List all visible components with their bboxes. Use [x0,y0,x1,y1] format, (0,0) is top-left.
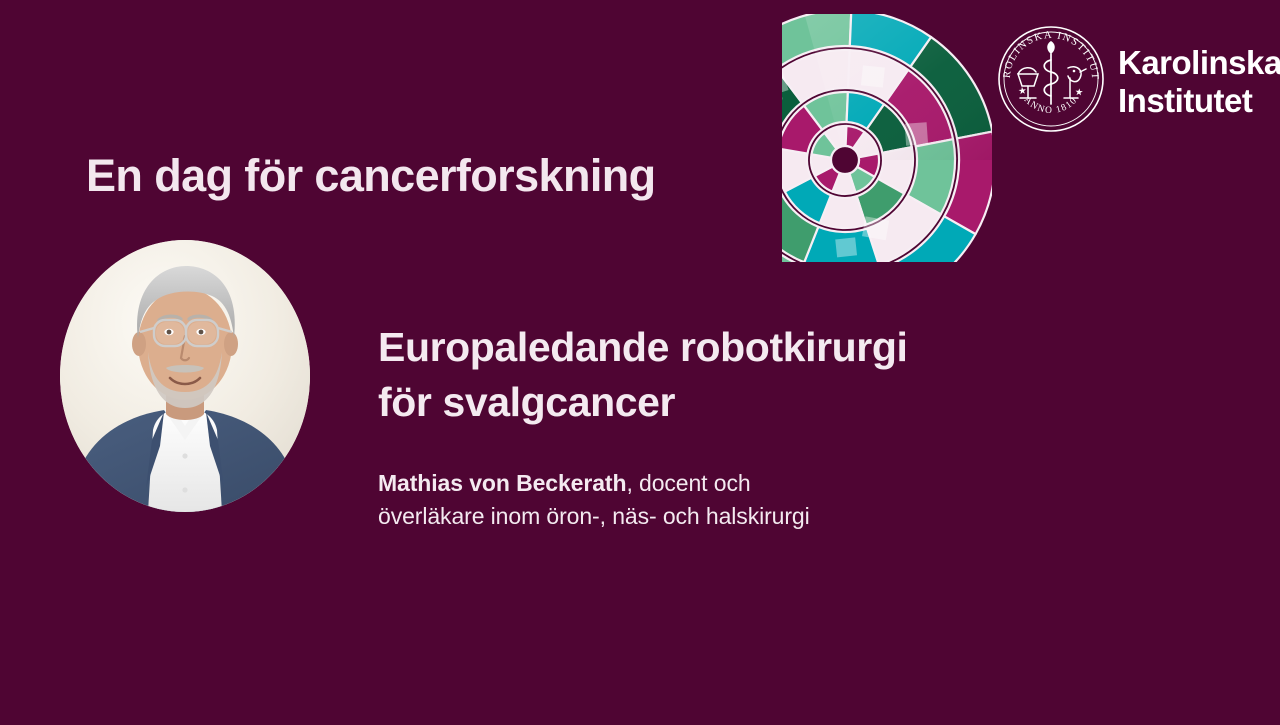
speaker-portrait [60,240,310,512]
ki-seal-icon: KAROLINSKA INSTITUTET ★ ANNO 1810 ★ [996,24,1106,134]
event-title: En dag för cancerforskning [86,152,656,199]
talk-title-line-1: Europaledande robotkirurgi [378,324,908,370]
talk-block: Europaledande robotkirurgi för svalgcanc… [378,320,1078,534]
fan-graphic-icon [782,14,992,262]
karolinska-institutet-logo: KAROLINSKA INSTITUTET ★ ANNO 1810 ★ [996,24,1252,136]
talk-title: Europaledande robotkirurgi för svalgcanc… [378,320,1078,429]
ki-wordmark-line-2: Institutet [1118,82,1252,119]
speaker-credit: Mathias von Beckerath, docent och överlä… [378,467,1078,534]
presentation-slide: En dag för cancerforskning [0,0,1280,725]
speaker-role-line-1: , docent och [626,470,750,496]
talk-title-line-2: för svalgcancer [378,379,675,425]
svg-text:KAROLINSKA INSTITUTET: KAROLINSKA INSTITUTET [996,24,1100,81]
speaker-name: Mathias von Beckerath [378,470,626,496]
ki-wordmark-line-1: Karolinska [1118,44,1280,81]
speaker-role-line-2: överläkare inom öron-, näs- och halskiru… [378,503,810,529]
ki-wordmark: Karolinska Institutet [1118,44,1280,121]
